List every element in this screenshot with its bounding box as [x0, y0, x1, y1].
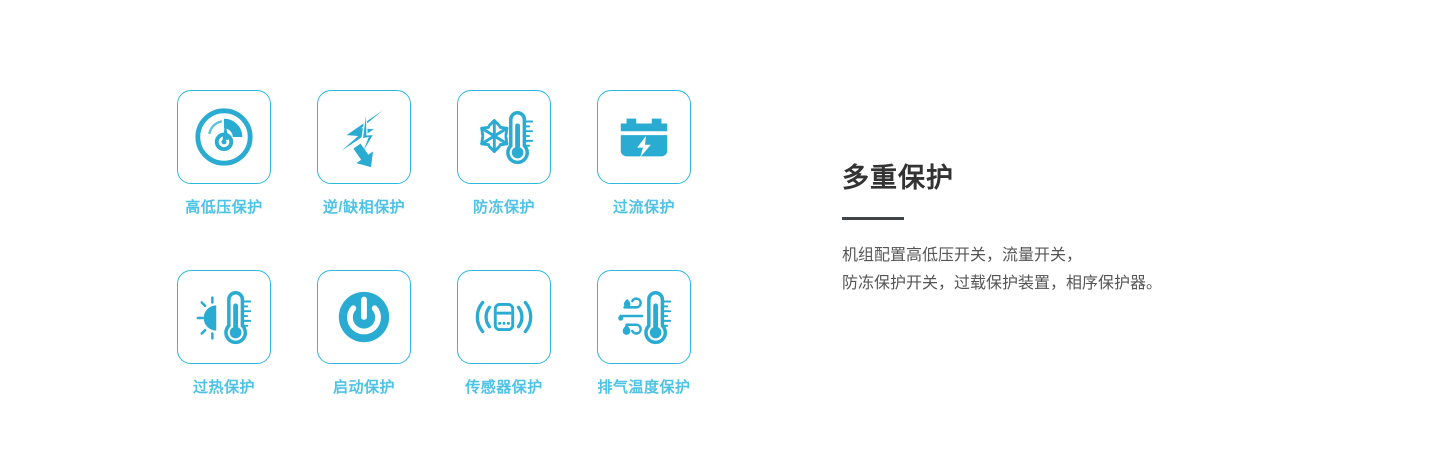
power-button-icon — [333, 286, 395, 348]
feature-item-antifreeze[interactable]: 防冻保护 — [456, 90, 552, 215]
info-description-line-2: 防冻保护开关，过载保护装置，相序保护器。 — [842, 270, 1362, 298]
feature-item-sensor[interactable]: 传感器保护 — [456, 270, 552, 395]
feature-icon-box — [457, 270, 551, 364]
feature-label: 过流保护 — [613, 200, 675, 215]
feature-icon-box — [317, 90, 411, 184]
feature-item-overcurrent[interactable]: 过流保护 — [596, 90, 692, 215]
feature-icon-box — [177, 90, 271, 184]
feature-item-high-low-pressure[interactable]: 高低压保护 — [176, 90, 272, 215]
battery-lightning-icon — [613, 106, 675, 168]
feature-item-discharge-temperature[interactable]: 排气温度保护 — [596, 270, 692, 395]
info-panel: 多重保护 机组配置高低压开关，流量开关， 防冻保护开关，过载保护装置，相序保护器… — [842, 162, 1362, 298]
feature-label: 过热保护 — [193, 380, 255, 395]
info-description-line-1: 机组配置高低压开关，流量开关， — [842, 242, 1362, 270]
sensor-signal-icon — [473, 286, 535, 348]
snowflake-thermometer-icon — [473, 106, 535, 168]
feature-label: 高低压保护 — [185, 200, 263, 215]
page-root: 高低压保护 逆/缺相保护 — [0, 0, 1440, 454]
feature-icon-box — [177, 270, 271, 364]
info-description: 机组配置高低压开关，流量开关， 防冻保护开关，过载保护装置，相序保护器。 — [842, 242, 1362, 298]
feature-icon-box — [597, 270, 691, 364]
pressure-gauge-icon — [193, 106, 255, 168]
feature-item-phase-reverse[interactable]: 逆/缺相保护 — [316, 90, 412, 215]
feature-label: 逆/缺相保护 — [323, 200, 405, 215]
feature-label: 启动保护 — [333, 380, 395, 395]
title-divider — [842, 217, 904, 220]
sun-thermometer-icon — [193, 286, 255, 348]
feature-label: 排气温度保护 — [597, 380, 690, 395]
phase-lightning-icon — [333, 106, 395, 168]
feature-item-startup[interactable]: 启动保护 — [316, 270, 412, 395]
feature-item-overheat[interactable]: 过热保护 — [176, 270, 272, 395]
feature-label: 防冻保护 — [473, 200, 535, 215]
feature-icon-box — [317, 270, 411, 364]
feature-icon-box — [457, 90, 551, 184]
page-title: 多重保护 — [842, 162, 1362, 194]
protection-feature-grid: 高低压保护 逆/缺相保护 — [176, 90, 716, 395]
feature-label: 传感器保护 — [465, 380, 543, 395]
feature-icon-box — [597, 90, 691, 184]
airflow-thermometer-icon — [613, 286, 675, 348]
